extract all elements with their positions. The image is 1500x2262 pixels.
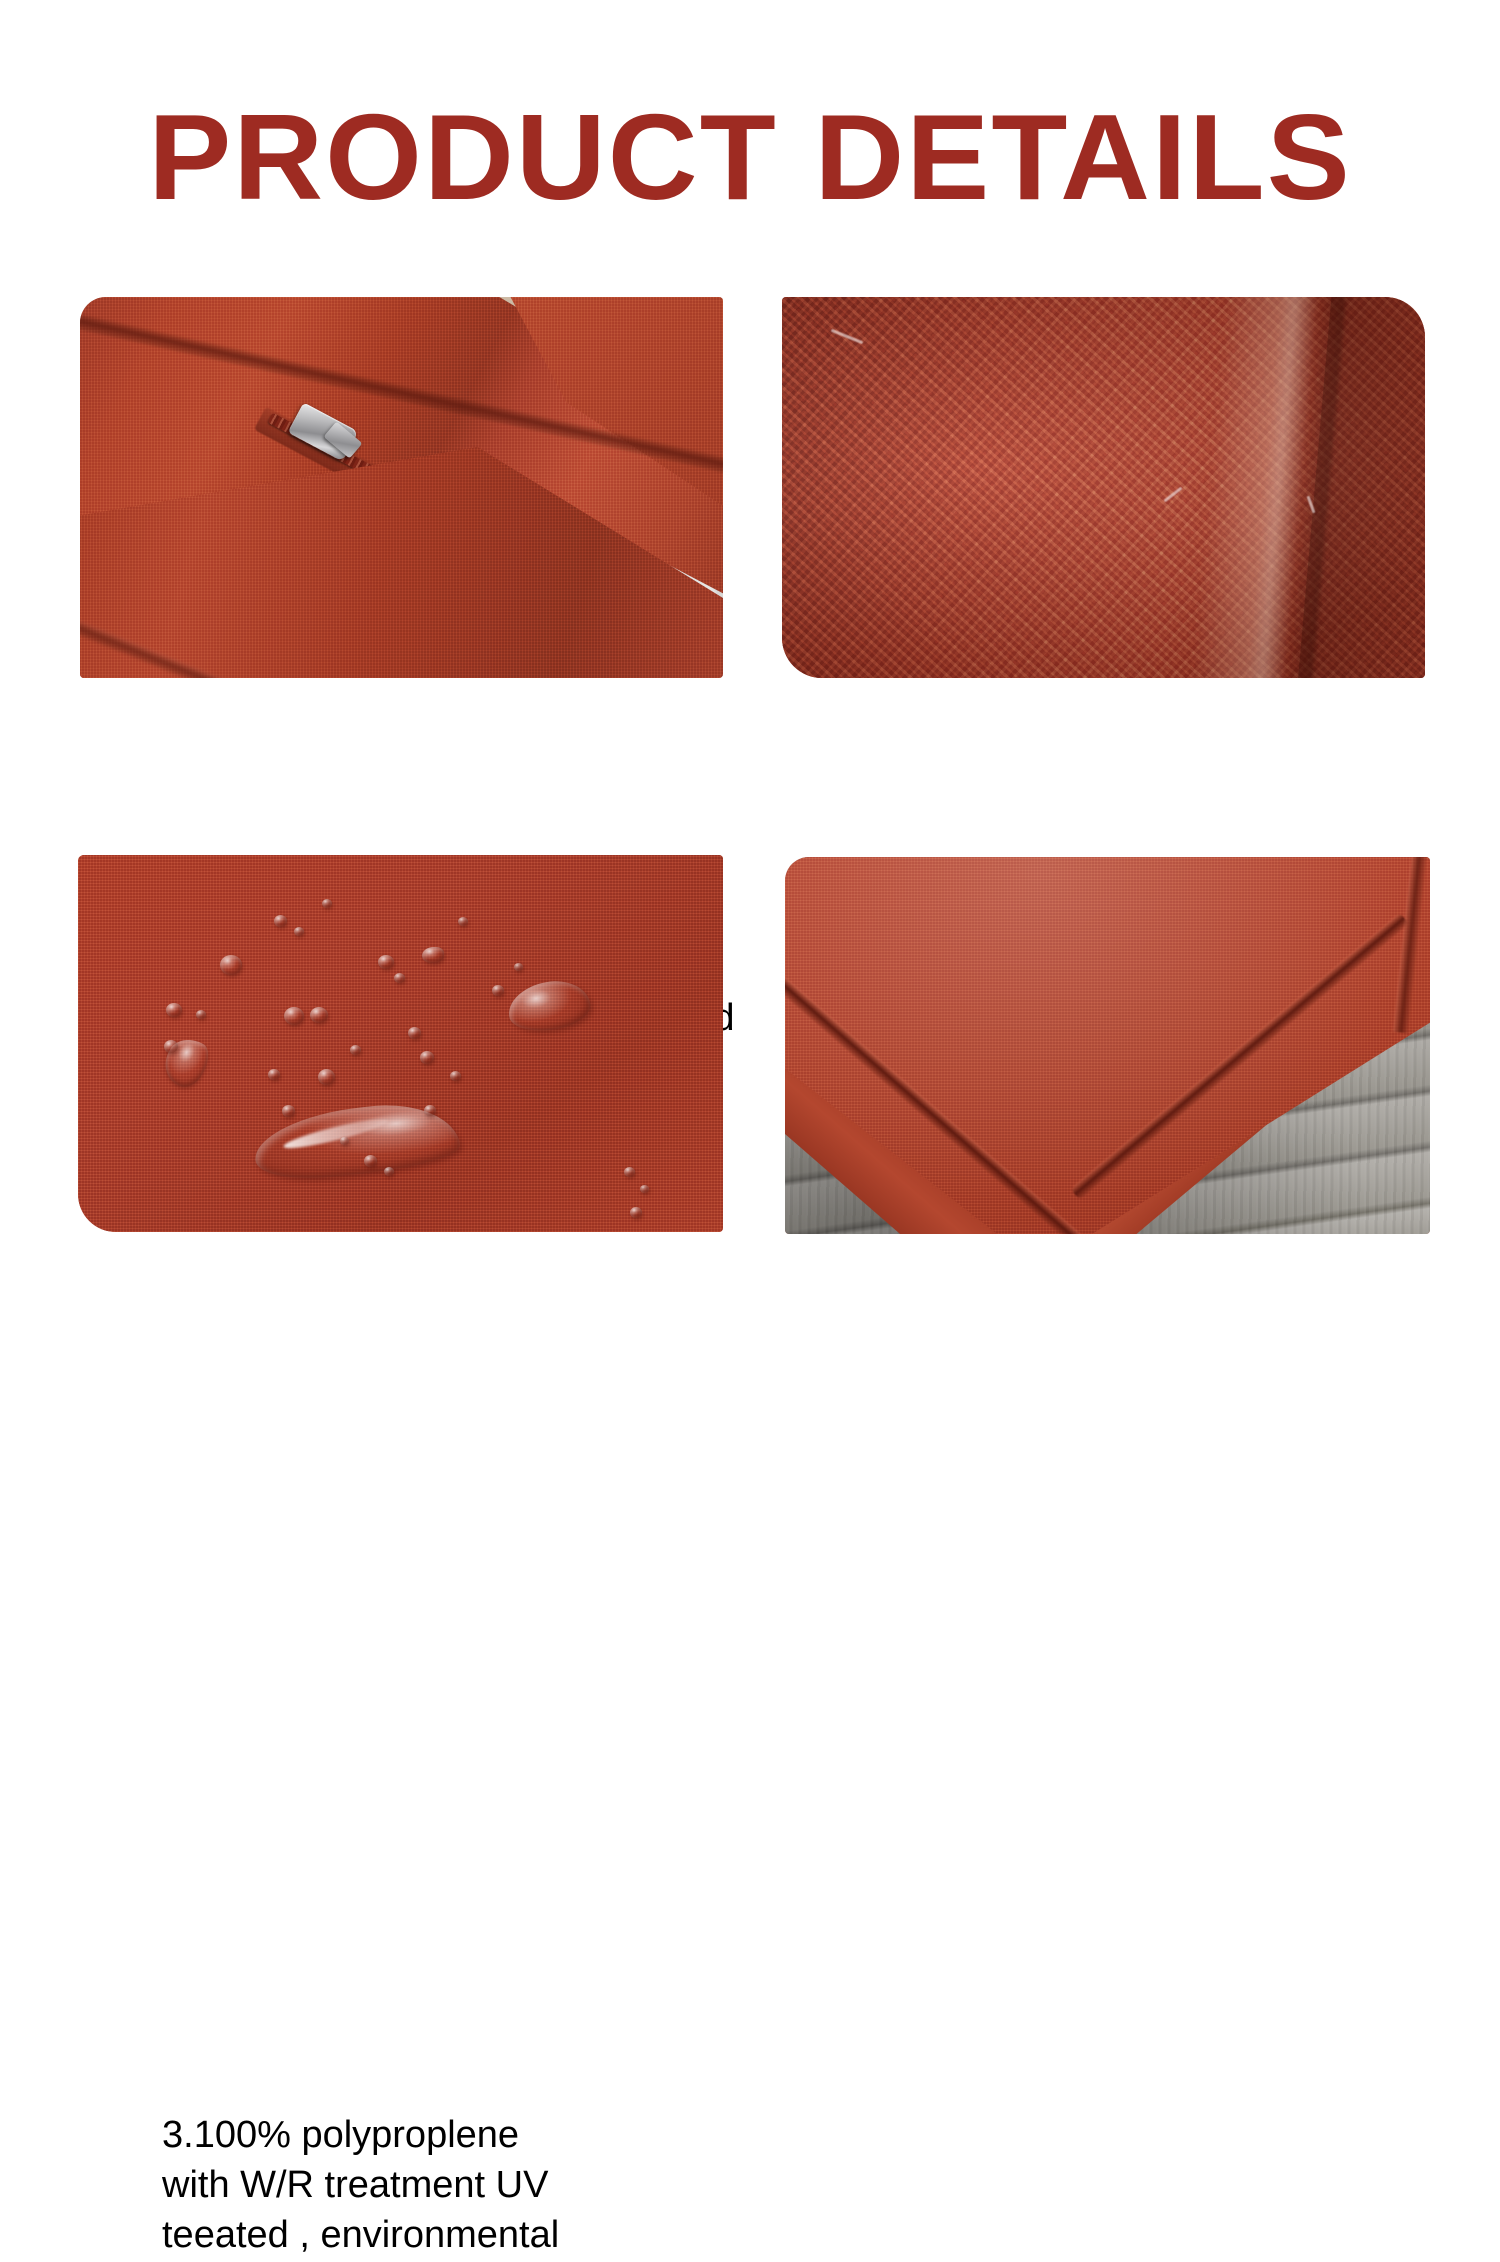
detail-card-3: 3.100% polyproplene with W/R treatment U… [78,855,723,1232]
water-droplet [284,1007,304,1025]
detail-card-1: 1.Cushion cover is removable and washabl… [80,297,723,678]
caption-3: 3.100% polyproplene with W/R treatment U… [162,2110,822,2260]
water-droplet [294,927,304,936]
water-droplet [408,1027,421,1039]
water-droplet [492,985,504,996]
water-droplet [378,955,394,969]
water-droplet [630,1207,642,1218]
water-droplet [196,1010,206,1019]
water-droplet [624,1167,635,1177]
water-droplet [164,1040,178,1053]
water-droplet [220,955,242,975]
water-droplet [640,1185,649,1193]
woven-fabric-photo [782,297,1425,678]
water-droplet [268,1069,280,1080]
water-droplet [364,1155,377,1167]
water-droplet [458,917,468,926]
water-droplet [420,1051,434,1064]
zipper-detail-photo [80,297,723,678]
water-droplet [282,1105,295,1117]
water-droplet [350,1045,361,1055]
water-droplet [318,1069,335,1085]
water-droplet [310,1007,328,1023]
lighting-vignette [782,297,1425,678]
water-droplet-small-curved [422,947,444,963]
page-title: PRODUCT DETAILS [0,96,1500,218]
water-droplet [424,1105,436,1116]
water-droplet [274,915,287,927]
water-droplet [514,963,523,971]
water-droplet [166,1003,182,1017]
detail-card-2: 2.Yard-dyed woven by two kinds of yarns [782,297,1425,678]
water-droplet [340,1137,349,1145]
water-droplet [450,1071,461,1081]
water-droplet [394,973,405,983]
detail-card-4: 4.Piping as Cushions A good piping match… [785,857,1430,1234]
water-droplet [322,899,332,908]
water-droplet [384,1167,394,1176]
piping-corner-photo [785,857,1430,1234]
water-repellent-photo [78,855,723,1232]
